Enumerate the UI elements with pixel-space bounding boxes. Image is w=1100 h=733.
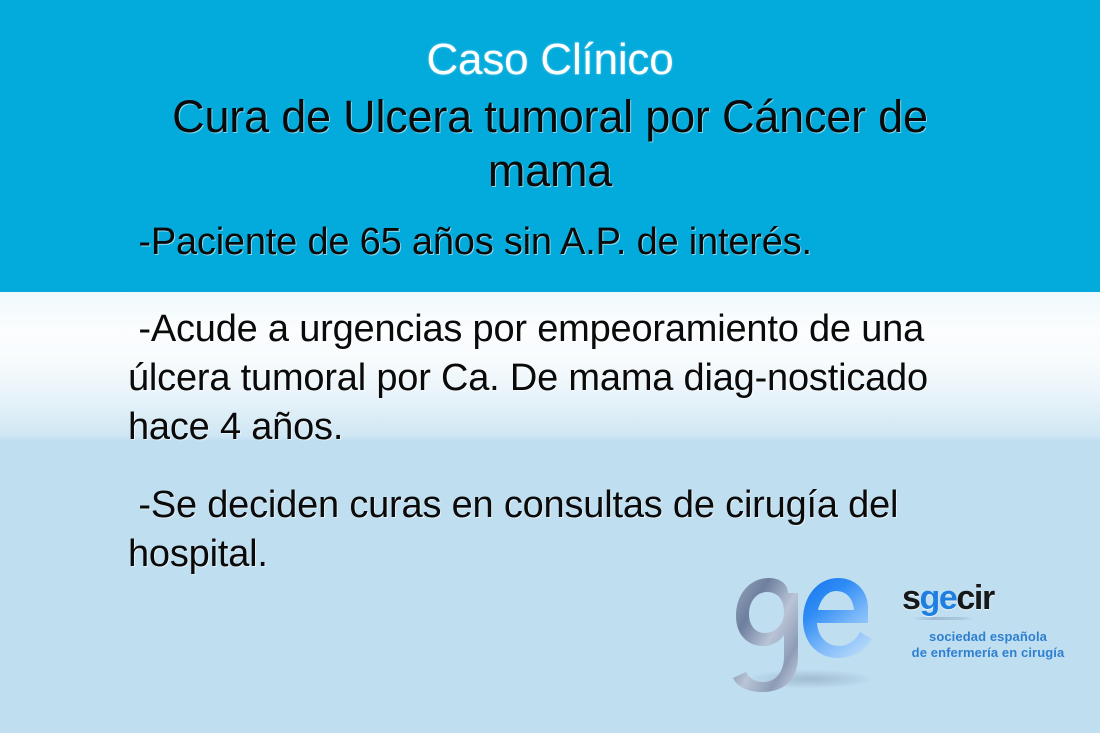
slide: Caso Clínico Cura de Ulcera tumoral por … (0, 0, 1100, 733)
sgecir-wordmark-text: sgecir (902, 580, 1074, 616)
bullet-paragraph-3: -Se deciden curas en consultas de cirugí… (128, 481, 1008, 579)
sgecir-logo: sgecir sociedad española de enfermería e… (726, 572, 1074, 700)
wordmark-letters-cir: cir (956, 579, 993, 617)
sgecir-wordmark: sgecir sociedad española de enfermería e… (902, 580, 1074, 660)
logo-tagline: sociedad española de enfermería en cirug… (902, 629, 1074, 660)
slide-title: Caso Clínico (0, 34, 1100, 86)
bullet-paragraph-2: -Acude a urgencias por empeoramiento de … (128, 305, 1008, 452)
wordmark-underline (912, 617, 974, 620)
wordmark-letter-s: s (902, 579, 920, 617)
bullet-paragraph-1: -Paciente de 65 años sin A.P. de interés… (128, 218, 1008, 267)
wordmark-letters-ge: ge (920, 579, 957, 617)
slide-subtitle: Cura de Ulcera tumoral por Cáncer de mam… (110, 90, 990, 198)
ge-monogram-icon (726, 572, 896, 692)
